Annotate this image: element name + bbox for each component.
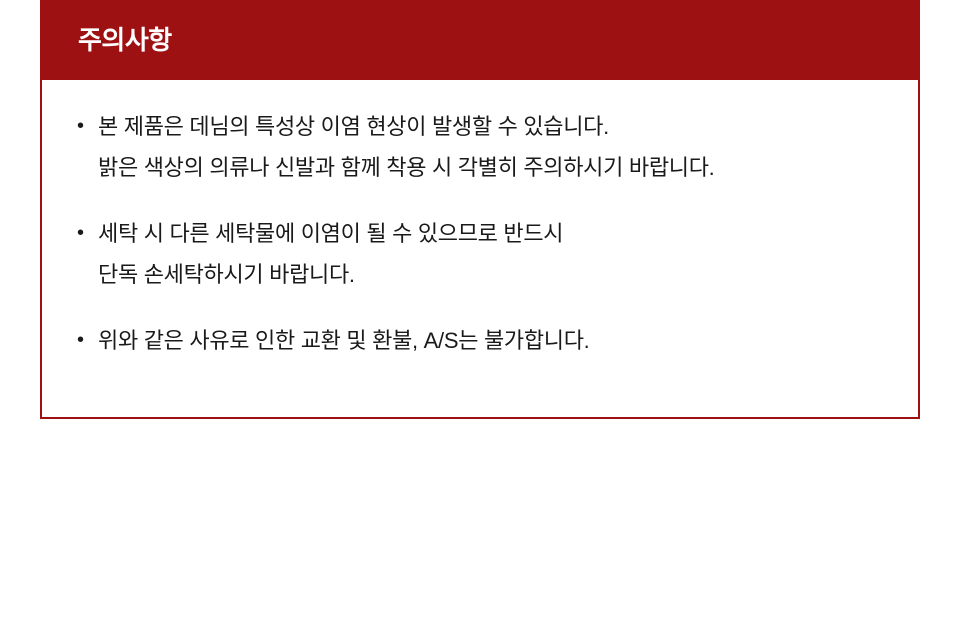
notice-body-box: • 본 제품은 데님의 특성상 이염 현상이 발생할 수 있습니다. 밝은 색상… — [40, 80, 920, 419]
notice-text-line: 위와 같은 사유로 인한 교환 및 환불, A/S는 불가합니다. — [98, 320, 898, 361]
list-item: • 본 제품은 데님의 특성상 이염 현상이 발생할 수 있습니다. 밝은 색상… — [76, 106, 898, 188]
bullet-icon: • — [77, 106, 89, 147]
notice-text-line: 세탁 시 다른 세탁물에 이염이 될 수 있으므로 반드시 — [98, 213, 898, 254]
list-item: • 위와 같은 사유로 인한 교환 및 환불, A/S는 불가합니다. — [76, 320, 898, 361]
notice-panel: 주의사항 • 본 제품은 데님의 특성상 이염 현상이 발생할 수 있습니다. … — [40, 0, 920, 419]
list-item: • 세탁 시 다른 세탁물에 이염이 될 수 있으므로 반드시 단독 손세탁하시… — [76, 213, 898, 295]
notice-list: • 본 제품은 데님의 특성상 이염 현상이 발생할 수 있습니다. 밝은 색상… — [76, 106, 898, 361]
notice-text-line: 단독 손세탁하시기 바랍니다. — [98, 254, 898, 295]
notice-text-line: 본 제품은 데님의 특성상 이염 현상이 발생할 수 있습니다. — [98, 106, 898, 147]
bullet-icon: • — [77, 320, 89, 361]
notice-header-bar: 주의사항 — [40, 0, 920, 80]
page-title: 주의사항 — [78, 27, 172, 53]
notice-text-line: 밝은 색상의 의류나 신발과 함께 착용 시 각별히 주의하시기 바랍니다. — [98, 147, 898, 188]
bullet-icon: • — [77, 213, 89, 254]
